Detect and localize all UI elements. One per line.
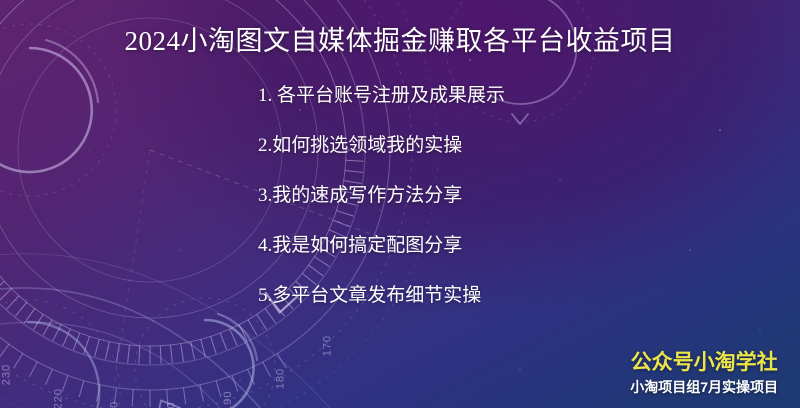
brand-subtitle: 小淘项目组7月实操项目 (630, 378, 778, 396)
list-item: 1. 各平台账号注册及成果展示 (258, 86, 778, 105)
agenda-list: 1. 各平台账号注册及成果展示 2.如何挑选领域我的实操 3.我的速成写作方法分… (258, 86, 778, 305)
footer-watermark: 公众号小淘学社 小淘项目组7月实操项目 (630, 349, 778, 396)
presentation-slide: 170 180 190 200 210 220 230 240 250 260 (0, 0, 800, 408)
svg-text:170: 170 (321, 335, 333, 356)
brand-name: 公众号小淘学社 (630, 349, 778, 375)
svg-text:180: 180 (275, 368, 287, 389)
page-title: 2024小淘图文自媒体掘金赚取各平台收益项目 (0, 26, 800, 57)
svg-text:200: 200 (166, 402, 178, 408)
list-item: 4.我是如何搞定配图分享 (258, 236, 778, 255)
svg-text:190: 190 (222, 390, 234, 408)
svg-text:220: 220 (53, 388, 65, 408)
ring-bottom-left (0, 300, 120, 408)
ring-lower-middle (135, 298, 275, 408)
svg-text:210: 210 (108, 401, 120, 408)
list-item: 5.多平台文章发布细节实操 (258, 286, 778, 305)
list-item: 3.我的速成写作方法分享 (258, 186, 778, 205)
list-item: 2.如何挑选领域我的实操 (258, 136, 778, 155)
svg-text:230: 230 (1, 364, 13, 385)
